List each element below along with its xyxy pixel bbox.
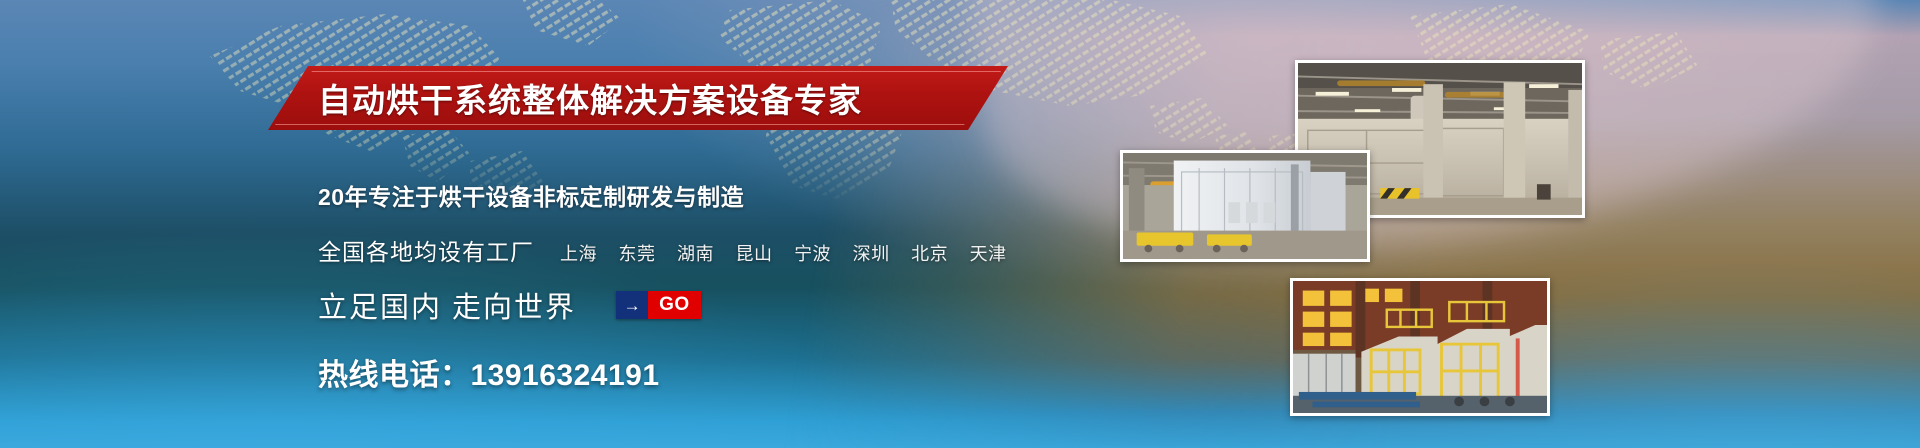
go-button-label: GO: [648, 291, 701, 319]
slogan-text: 立足国内 走向世界: [318, 284, 576, 326]
city-item-ningbo: 宁波: [794, 244, 831, 264]
city-item-hunan: 湖南: [677, 244, 714, 264]
copy-block: 20年专注于烘干设备非标定制研发与制造 全国各地均设有工厂 上海 东莞 湖南 昆…: [318, 136, 1007, 394]
factories-line: 全国各地均设有工厂 上海 东莞 湖南 昆山 宁波 深圳 北京 天津: [318, 233, 1007, 267]
drying-ovens-line-photo: [1290, 278, 1550, 416]
tagline-text: 20年专注于烘干设备非标定制研发与制造: [318, 178, 1007, 212]
city-item-shenzhen: 深圳: [853, 244, 890, 264]
factories-label: 全国各地均设有工厂: [318, 233, 534, 267]
go-button[interactable]: → GO: [616, 291, 701, 319]
city-item-kunshan: 昆山: [736, 244, 773, 264]
promo-banner: 自动烘干系统整体解决方案设备专家 20年专注于烘干设备非标定制研发与制造 全国各…: [0, 0, 1920, 448]
city-list: 上海 东莞 湖南 昆山 宁波 深圳 北京 天津: [560, 240, 1007, 266]
city-item-beijing: 北京: [911, 244, 948, 264]
arrow-right-icon: →: [616, 291, 648, 319]
slogan-line: 立足国内 走向世界 → GO: [318, 284, 1007, 326]
hotline-text: 热线电话：13916324191: [318, 350, 1007, 394]
city-item-dongguan: 东莞: [619, 244, 656, 264]
headline-text: 自动烘干系统整体解决方案设备专家: [318, 66, 862, 130]
city-item-shanghai: 上海: [560, 244, 597, 264]
drying-oven-photo: [1120, 150, 1370, 262]
city-item-tianjin: 天津: [970, 244, 1007, 264]
